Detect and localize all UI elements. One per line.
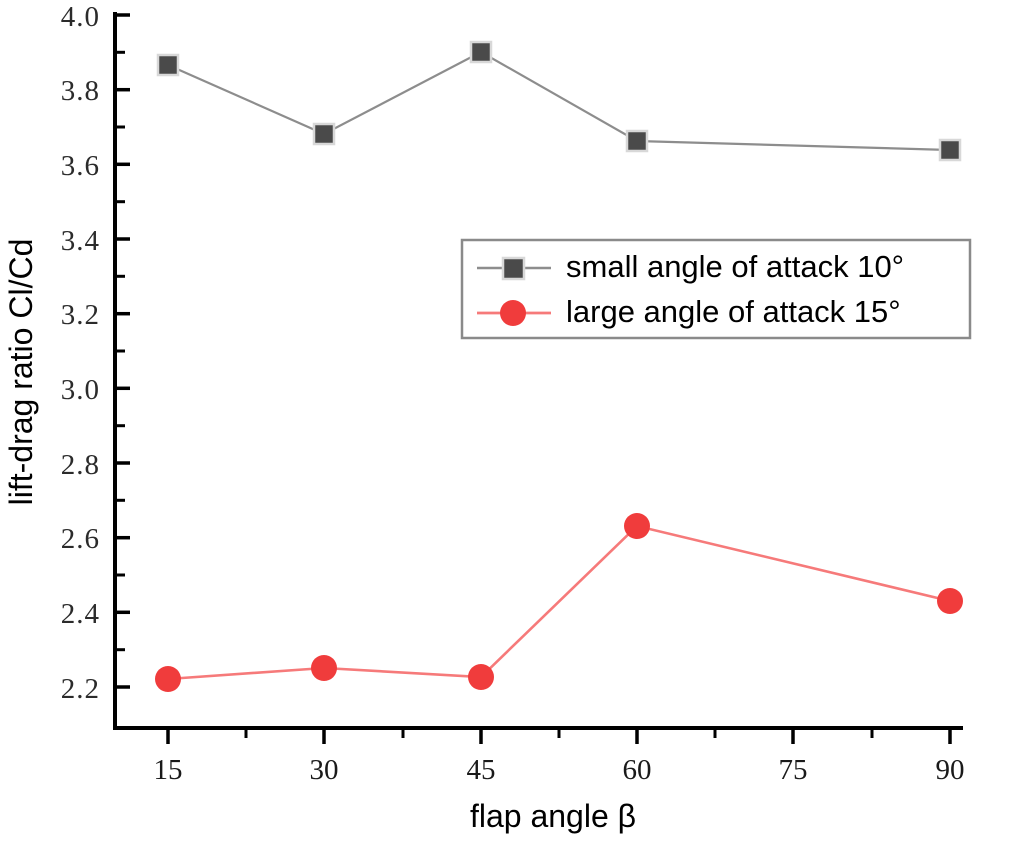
data-point-marker — [155, 666, 181, 692]
data-point-marker — [627, 131, 647, 151]
data-point-marker — [311, 655, 337, 681]
data-point-marker — [314, 124, 334, 144]
chart-container: 4.0 3.8 3.6 3.4 3.2 3.0 2.8 2.6 2.4 2.2 — [0, 0, 1010, 844]
x-tick-label: 45 — [467, 754, 496, 786]
x-tick-label: 60 — [623, 754, 652, 786]
x-tick-label: 30 — [310, 754, 339, 786]
chart-background — [0, 0, 1010, 844]
data-point-marker — [468, 664, 494, 690]
chart-legend[interactable]: small angle of attack 10° large angle of… — [462, 240, 970, 338]
y-tick-label: 2.2 — [61, 673, 100, 705]
data-point-marker — [624, 513, 650, 539]
x-tick-label: 90 — [936, 754, 965, 786]
data-point-marker — [471, 42, 491, 62]
y-tick-label: 3.2 — [61, 299, 100, 331]
y-tick-label: 3.6 — [61, 150, 100, 182]
y-tick-label: 2.4 — [61, 598, 100, 630]
data-point-marker — [937, 588, 963, 614]
legend-marker-circle-icon — [500, 300, 526, 326]
x-tick-label: 15 — [154, 754, 183, 786]
x-tick-label: 75 — [779, 754, 808, 786]
lift-drag-ratio-line-chart: 4.0 3.8 3.6 3.4 3.2 3.0 2.8 2.6 2.4 2.2 — [0, 0, 1010, 844]
y-axis-title: lift-drag ratio Cl/Cd — [3, 239, 39, 506]
y-tick-label: 3.4 — [61, 225, 100, 257]
data-point-marker — [158, 55, 178, 75]
x-axis-title: flap angle β — [470, 798, 636, 834]
y-tick-label: 3.8 — [61, 75, 100, 107]
legend-label: large angle of attack 15° — [566, 294, 901, 329]
data-point-marker — [940, 140, 960, 160]
y-tick-label: 2.8 — [61, 449, 100, 481]
y-tick-label: 4.0 — [61, 1, 100, 33]
legend-marker-square-icon — [503, 258, 524, 279]
y-tick-label: 2.6 — [61, 523, 100, 555]
legend-label: small angle of attack 10° — [566, 249, 904, 284]
y-tick-label: 3.0 — [61, 374, 100, 406]
